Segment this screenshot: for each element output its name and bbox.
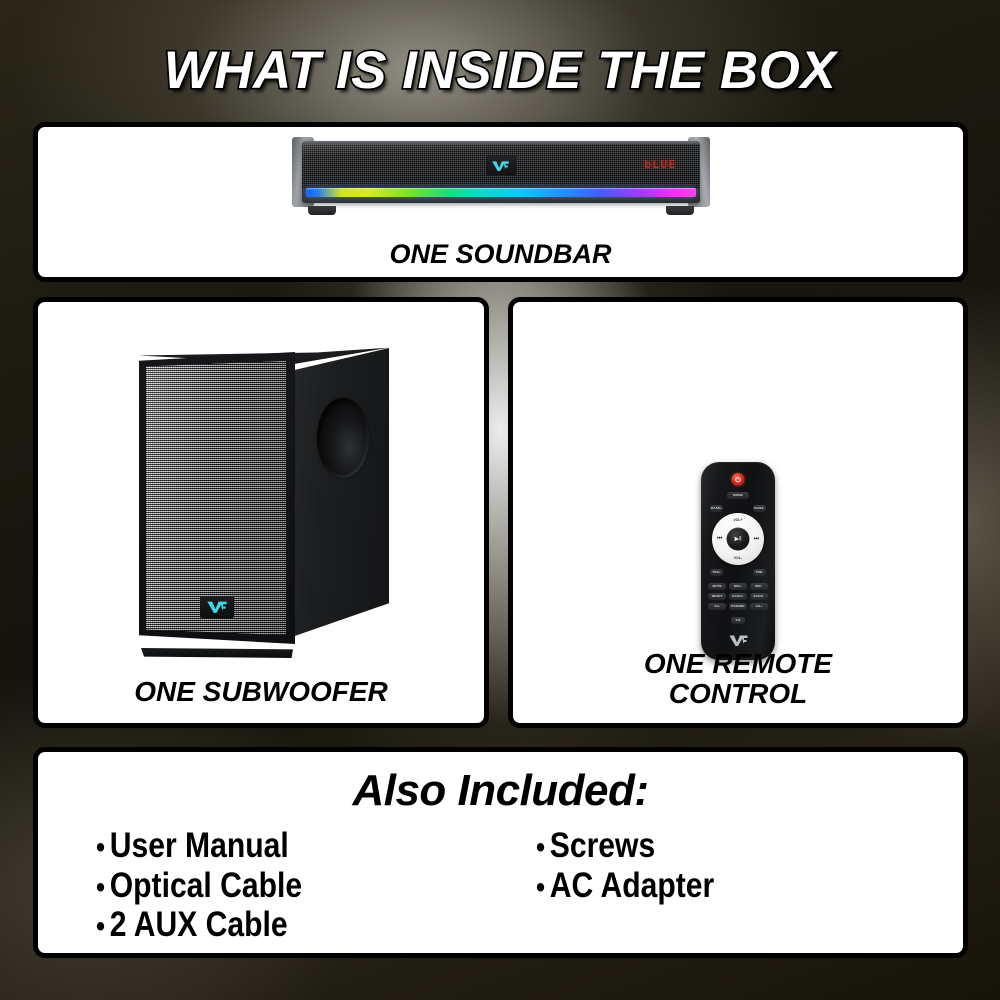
panel-also-included: Also Included: •User Manual•Optical Cabl… [33,747,968,958]
soundbar-foot-left [308,206,336,215]
subwoofer-front-face [139,352,295,644]
remote-button-volume-down: VOL- [712,556,764,560]
remote-button-volume-up: VOL+ [712,518,764,522]
also-included-item: •User Manual [96,826,474,866]
vf-logo-icon [200,596,234,618]
remote-button-play-pause: ▶‖ [727,528,750,551]
remote-button-mute: MUTE [708,583,726,590]
remote-button-ch: CH- [708,603,726,610]
also-included-item: •Screws [536,826,863,866]
soundbar-illustration: bLUE [286,135,716,215]
bullet-icon: • [96,833,110,863]
remote-button-mic: MIC+ [729,583,747,590]
remote-button-ch: CH+ [750,603,768,610]
subwoofer-base [141,648,293,658]
caption-remote-line1: ONE REMOTE [513,649,963,679]
vf-logo-icon [727,633,749,647]
remote-button-mic: MIC- [750,583,768,590]
remote-button-treble-down: TRE- [753,569,766,576]
remote-button-bass-down: BASS- [753,505,766,512]
panel-remote: MODE BASS+ BASS- VOL+ VOL- ⏮ ⏭ ▶‖ TRE+ T… [508,297,968,728]
rgb-light-strip [306,188,696,197]
bullet-icon: • [536,873,550,903]
caption-soundbar: ONE SOUNDBAR [38,240,963,269]
bass-port-icon [317,398,369,478]
remote-button-pairing: PAIRING [729,603,747,610]
also-included-item-label: 2 AUX Cable [110,905,288,945]
also-included-item: •Optical Cable [96,866,474,906]
remote-button-grid: MUTEMIC+MIC-RESETECHO+ECHO-CH-PAIRINGCH+ [708,583,768,610]
remote-button-bass-up: BASS+ [710,505,723,512]
vf-logo-icon [486,156,516,175]
also-included-columns: •User Manual•Optical Cable•2 AUX Cable •… [96,826,923,945]
page-title: WHAT IS INSIDE THE BOX [0,40,1000,101]
remote-dpad-ring: VOL+ VOL- ⏮ ⏭ ▶‖ [712,513,764,565]
soundbar-foot-right [666,206,694,215]
remote-button-next: ⏭ [754,536,759,542]
caption-subwoofer: ONE SUBWOOFER [38,677,484,707]
remote-button-eq: EQ [731,617,745,624]
remote-button-mode: MODE [727,492,749,499]
subwoofer-grille [146,361,286,635]
also-included-item-label: Screws [550,826,655,866]
remote-button-reset: RESET [708,593,726,600]
caption-remote-line2: CONTROL [513,679,963,709]
also-included-item-label: AC Adapter [550,866,714,906]
remote-button-echo: ECHO+ [729,593,747,600]
also-included-column-right: •Screws•AC Adapter [536,826,916,945]
bullet-icon: • [96,873,110,903]
bullet-icon: • [96,912,110,942]
remote-button-treble-up: TRE+ [710,569,723,576]
also-included-title: Also Included: [38,766,963,816]
panel-subwoofer: ONE SUBWOOFER [33,297,489,728]
also-included-item: •2 AUX Cable [96,905,474,945]
soundbar-body: bLUE [302,141,700,203]
remote-illustration: MODE BASS+ BASS- VOL+ VOL- ⏮ ⏭ ▶‖ TRE+ T… [701,462,775,660]
power-button-icon [732,473,745,486]
remote-button-previous: ⏮ [717,536,722,542]
bullet-icon: • [536,833,550,863]
infographic-canvas: WHAT IS INSIDE THE BOX bLUE [0,0,1000,1000]
subwoofer-grille-shading [146,361,286,635]
soundbar-led-display: bLUE [644,158,676,171]
also-included-item: •AC Adapter [536,866,863,906]
also-included-column-left: •User Manual•Optical Cable•2 AUX Cable [96,826,536,945]
also-included-item-label: Optical Cable [110,866,302,906]
caption-remote: ONE REMOTE CONTROL [513,649,963,709]
subwoofer-illustration [121,330,401,660]
subwoofer-side-panel [289,348,389,638]
also-included-item-label: User Manual [110,826,289,866]
remote-button-echo: ECHO- [750,593,768,600]
panel-soundbar: bLUE ONE SOUNDBAR [33,122,968,282]
